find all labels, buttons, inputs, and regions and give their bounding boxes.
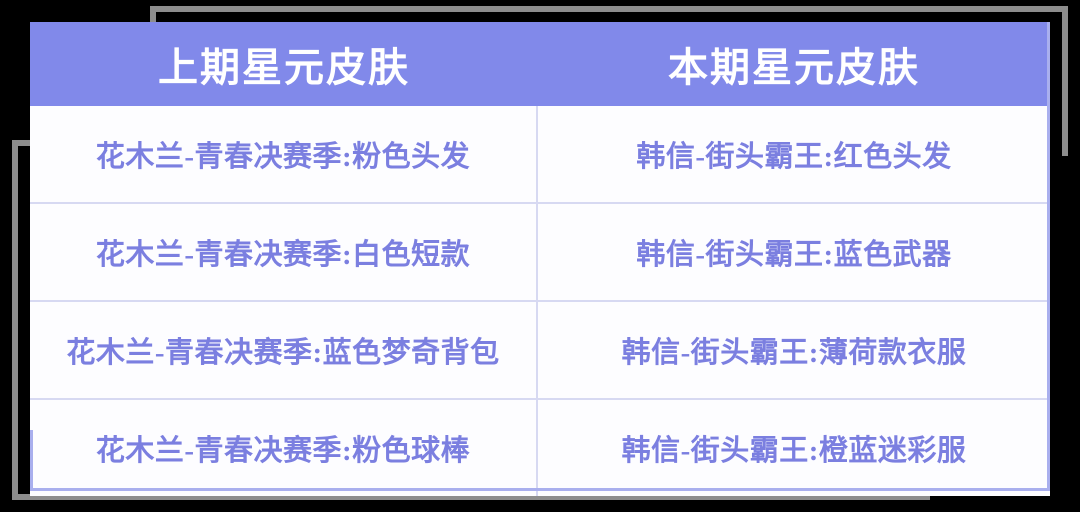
frame-line-right — [1062, 6, 1068, 156]
cell-current-skin: 韩信-街头霸王:红色头发 — [538, 106, 1050, 202]
table-row: 花木兰-青春决赛季:蓝色梦奇背包 韩信-街头霸王:薄荷款衣服 — [30, 302, 1050, 400]
frame-line-left — [12, 140, 18, 500]
column-header-current-period: 本期星元皮肤 — [538, 22, 1050, 106]
column-header-previous-period: 上期星元皮肤 — [30, 22, 538, 106]
cell-previous-skin: 花木兰-青春决赛季:粉色头发 — [30, 106, 538, 202]
poster-frame: 上期星元皮肤 本期星元皮肤 花木兰-青春决赛季:粉色头发 韩信-街头霸王:红色头… — [0, 0, 1080, 512]
cell-previous-skin: 花木兰-青春决赛季:白色短款 — [30, 204, 538, 300]
cell-previous-skin: 花木兰-青春决赛季:粉色球棒 — [30, 400, 538, 496]
card-edge-left — [30, 430, 33, 491]
frame-line-top — [150, 6, 1068, 12]
table-body: 花木兰-青春决赛季:粉色头发 韩信-街头霸王:红色头发 花木兰-青春决赛季:白色… — [30, 106, 1050, 496]
table-header-row: 上期星元皮肤 本期星元皮肤 — [30, 22, 1050, 106]
card-edge-right — [1047, 22, 1050, 491]
cell-current-skin: 韩信-街头霸王:蓝色武器 — [538, 204, 1050, 300]
cell-previous-skin: 花木兰-青春决赛季:蓝色梦奇背包 — [30, 302, 538, 398]
table-row: 花木兰-青春决赛季:白色短款 韩信-街头霸王:蓝色武器 — [30, 204, 1050, 302]
cell-current-skin: 韩信-街头霸王:薄荷款衣服 — [538, 302, 1050, 398]
card-edge-bottom — [30, 488, 1050, 491]
table-row: 花木兰-青春决赛季:粉色头发 韩信-街头霸王:红色头发 — [30, 106, 1050, 204]
cell-current-skin: 韩信-街头霸王:橙蓝迷彩服 — [538, 400, 1050, 496]
skin-comparison-table: 上期星元皮肤 本期星元皮肤 花木兰-青春决赛季:粉色头发 韩信-街头霸王:红色头… — [30, 22, 1050, 490]
table-row: 花木兰-青春决赛季:粉色球棒 韩信-街头霸王:橙蓝迷彩服 — [30, 400, 1050, 496]
